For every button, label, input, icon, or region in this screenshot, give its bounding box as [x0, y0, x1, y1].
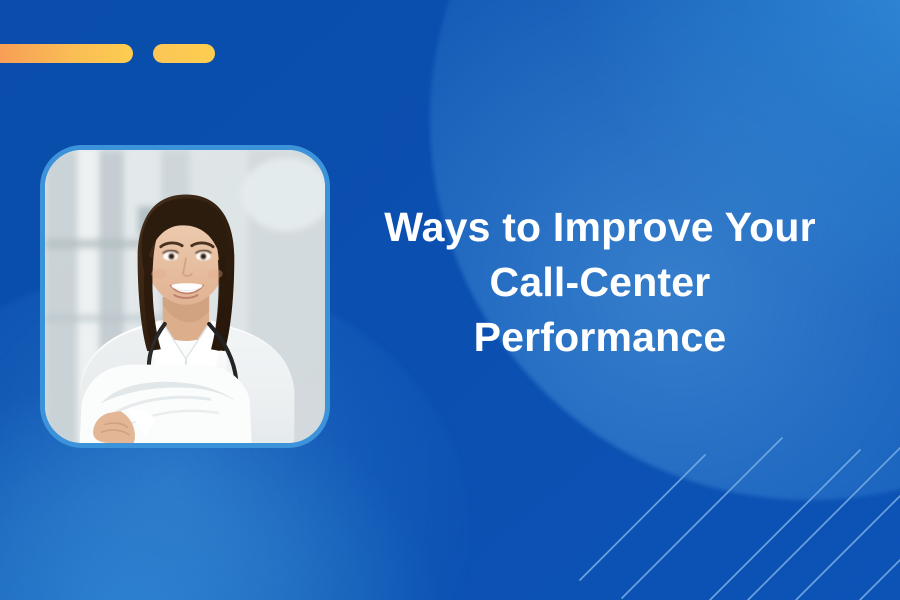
- accent-bars: [0, 44, 215, 63]
- accent-bar-short: [153, 44, 215, 63]
- accent-bar-long: [0, 44, 133, 63]
- title-line-1: Ways to Improve Your: [352, 200, 848, 255]
- doctor-photo-frame: [40, 145, 330, 448]
- title-line-3: Performance: [352, 310, 848, 365]
- page-title: Ways to Improve Your Call-Center Perform…: [352, 200, 848, 365]
- doctor-photo: [45, 150, 325, 443]
- title-block: Ways to Improve Your Call-Center Perform…: [352, 200, 848, 365]
- doctor-photo-illustration: [45, 150, 325, 443]
- title-line-2: Call-Center: [352, 255, 848, 310]
- banner-canvas: Ways to Improve Your Call-Center Perform…: [0, 0, 900, 600]
